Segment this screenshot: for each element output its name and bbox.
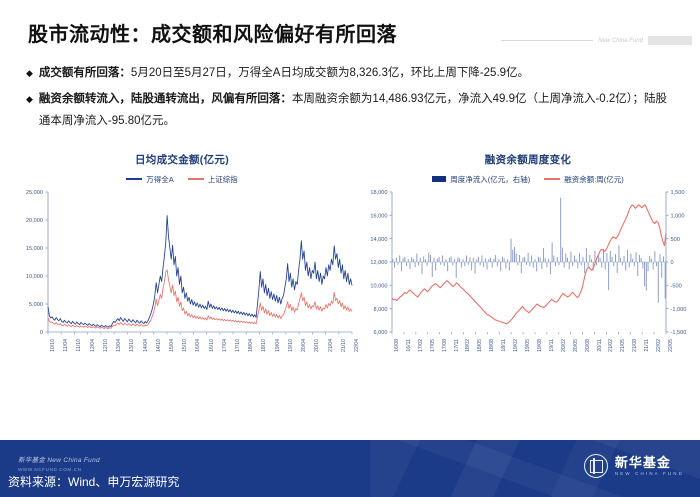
x-tick-label: 21/11 [644, 339, 650, 352]
x-tick-label: 19/05 [525, 339, 531, 352]
diamond-bullet-icon: ◆ [26, 88, 33, 110]
svg-text:10,000: 10,000 [26, 274, 43, 280]
chart-svg: 6,0008,00010,00012,00014,00016,00018,000… [356, 188, 700, 338]
svg-text:1,000: 1,000 [671, 214, 685, 220]
svg-text:0: 0 [671, 260, 674, 266]
x-tick-label: 20/11 [597, 339, 603, 352]
footer-logo-cn: 新华基金 [615, 456, 684, 470]
svg-text:8,000: 8,000 [374, 307, 388, 313]
footer-brand: 新华基金 New China Fund [18, 454, 100, 464]
legend-item: 上证综指 [188, 174, 238, 185]
x-tick-label: 19/11 [549, 339, 555, 352]
x-tick-label: 14/10 [156, 339, 162, 352]
x-tick-label: 18/04 [248, 339, 254, 352]
chart-legend: 周度净流入(亿元，右轴) 融资余额:周(亿元) [356, 173, 700, 185]
footer-url: WWW.NCFUND.COM.CN [18, 467, 82, 472]
watermark-rule [501, 40, 593, 41]
bullet-lead: 成交额有所回落： [39, 67, 131, 79]
x-tick-label: 19/08 [537, 339, 543, 352]
x-tick-label: 13/04 [116, 339, 122, 352]
legend-item: 万得全A [126, 174, 174, 185]
bullet-text: 融资余额转流入，陆股通转流出，风偏有所回落：本周融资余额为14,486.93亿元… [39, 88, 676, 132]
svg-text:15,000: 15,000 [26, 246, 43, 252]
x-tick-label: 18/10 [261, 339, 267, 352]
legend-swatch-box-icon [432, 176, 446, 182]
x-tick-label: 21/08 [632, 339, 638, 352]
diamond-bullet-icon: ◆ [26, 62, 33, 84]
x-tick-label: 12/10 [103, 339, 109, 352]
bullet-lead: 融资余额转流入，陆股通转流出，风偏有所回落： [39, 93, 292, 105]
bullet-body: 5月20日至5月27日，万得全A日均成交额为8,326.3亿，环比上周下降-25… [131, 67, 529, 79]
x-tick-label: 17/02 [418, 339, 424, 352]
x-tick-label: 18/11 [501, 339, 507, 352]
legend-label: 万得全A [146, 174, 174, 185]
x-tick-label: 18/08 [489, 339, 495, 352]
svg-text:12,000: 12,000 [370, 260, 387, 266]
x-tick-label: 16/08 [394, 339, 400, 352]
x-tick-label: 18/02 [465, 339, 471, 352]
x-tick-label: 11/04 [63, 339, 69, 352]
company-logo-icon [584, 454, 608, 478]
chart-panel-daily-turnover: 日均成交金额(亿元) 万得全A 上证综指 05,00010,00015,0002… [8, 150, 356, 365]
svg-text:500: 500 [671, 237, 680, 243]
footer-logo: 新华基金 NEW CHINA FUND [584, 454, 684, 478]
svg-text:14,000: 14,000 [370, 237, 387, 243]
legend-label: 融资余额:周(亿元) [564, 174, 624, 185]
bullet-item: ◆ 成交额有所回落：5月20日至5月27日，万得全A日均成交额为8,326.3亿… [26, 62, 676, 84]
x-tick-label: 19/04 [275, 339, 281, 352]
x-tick-label: 21/02 [608, 339, 614, 352]
x-tick-label: 20/02 [561, 339, 567, 352]
chart-svg: 05,00010,00015,00020,00025,000 [8, 188, 356, 338]
svg-text:16,000: 16,000 [370, 214, 387, 220]
x-tick-label: 14/04 [143, 339, 149, 352]
svg-text:10,000: 10,000 [370, 284, 387, 290]
page-title: 股市流动性：成交额和风险偏好有所回落 [28, 18, 397, 47]
legend-label: 周度净流入(亿元，右轴) [450, 174, 530, 185]
x-tick-label: 13/10 [129, 339, 135, 352]
watermark-bar [648, 36, 692, 45]
x-tick-label: 17/10 [235, 339, 241, 352]
svg-text:-1,000: -1,000 [671, 307, 687, 313]
x-tick-label: 17/04 [222, 339, 228, 352]
slide: 股市流动性：成交额和风险偏好有所回落 New China Fund ◆ 成交额有… [0, 0, 700, 497]
x-tick-label: 16/10 [209, 339, 215, 352]
svg-text:0: 0 [40, 330, 43, 336]
x-tick-label: 19/02 [513, 339, 519, 352]
x-tick-label: 17/05 [430, 339, 436, 352]
legend-label: 上证综指 [208, 174, 238, 185]
x-tick-label: 17/08 [442, 339, 448, 352]
footer-band: 新华基金 New China Fund WWW.NCFUND.COM.CN 资料… [0, 440, 700, 497]
x-tick-label: 19/10 [288, 339, 294, 352]
x-axis-labels: 10/1011/0411/1012/0412/1013/0413/1014/04… [8, 339, 356, 369]
x-tick-label: 20/05 [573, 339, 579, 352]
bullet-text: 成交额有所回落：5月20日至5月27日，万得全A日均成交额为8,326.3亿，环… [39, 62, 676, 84]
svg-text:1,500: 1,500 [671, 190, 685, 196]
bullet-list: ◆ 成交额有所回落：5月20日至5月27日，万得全A日均成交额为8,326.3亿… [26, 62, 676, 136]
legend-swatch-line-icon [544, 178, 560, 180]
footer-brand-en: New China Fund [47, 457, 100, 464]
x-tick-label: 10/10 [50, 339, 56, 352]
chart-panel-margin-balance: 融资余额周度变化 周度净流入(亿元，右轴) 融资余额:周(亿元) 6,0008,… [356, 150, 700, 365]
x-tick-label: 20/10 [314, 339, 320, 352]
x-tick-label: 15/04 [169, 339, 175, 352]
svg-text:6,000: 6,000 [374, 330, 388, 336]
x-tick-label: 16/04 [195, 339, 201, 352]
x-tick-label: 11/10 [76, 339, 82, 352]
legend-item: 周度净流入(亿元，右轴) [432, 174, 530, 185]
watermark: New China Fund [501, 36, 692, 45]
x-axis-labels: 16/0816/1117/0217/0517/0817/1118/0218/05… [356, 339, 700, 369]
svg-text:-1,500: -1,500 [671, 330, 687, 336]
plot-margin-balance: 6,0008,00010,00012,00014,00016,00018,000… [356, 188, 700, 338]
x-tick-label: 20/08 [585, 339, 591, 352]
chart-legend: 万得全A 上证综指 [8, 173, 356, 185]
x-tick-label: 16/11 [406, 339, 412, 352]
x-tick-label: 12/04 [90, 339, 96, 352]
footer-brand-cn: 新华基金 [18, 457, 45, 464]
svg-text:20,000: 20,000 [26, 218, 43, 224]
x-tick-label: 21/04 [328, 339, 334, 352]
bullet-item: ◆ 融资余额转流入，陆股通转流出，风偏有所回落：本周融资余额为14,486.93… [26, 88, 676, 132]
x-tick-label: 18/05 [477, 339, 483, 352]
source-note: 资料来源：Wind、申万宏源研究 [8, 473, 179, 490]
chart-title: 日均成交金额(亿元) [8, 152, 356, 167]
plot-daily-turnover: 05,00010,00015,00020,00025,000 [8, 188, 356, 338]
x-tick-label: 21/05 [620, 339, 626, 352]
footer-logo-text: 新华基金 NEW CHINA FUND [615, 456, 684, 476]
x-tick-label: 20/04 [301, 339, 307, 352]
chart-area: 日均成交金额(亿元) 万得全A 上证综指 05,00010,00015,0002… [0, 150, 700, 365]
x-tick-label: 22/02 [656, 339, 662, 352]
svg-text:5,000: 5,000 [29, 302, 43, 308]
chart-title: 融资余额周度变化 [356, 152, 700, 167]
svg-text:25,000: 25,000 [26, 190, 43, 196]
legend-item: 融资余额:周(亿元) [544, 174, 624, 185]
svg-text:-500: -500 [671, 284, 682, 290]
x-tick-label: 22/05 [668, 339, 674, 352]
x-tick-label: 17/11 [454, 339, 460, 352]
footer-logo-en: NEW CHINA FUND [615, 472, 684, 477]
legend-swatch-line-icon [126, 178, 142, 180]
legend-swatch-line-icon [188, 178, 204, 180]
svg-text:18,000: 18,000 [370, 190, 387, 196]
x-tick-label: 15/10 [182, 339, 188, 352]
watermark-label: New China Fund [598, 38, 643, 44]
x-tick-label: 21/10 [341, 339, 347, 352]
